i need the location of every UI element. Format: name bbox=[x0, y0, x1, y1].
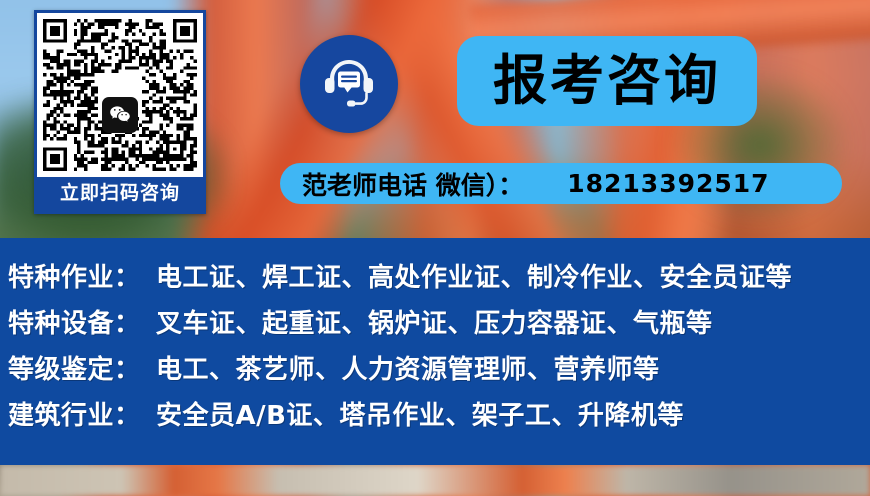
qr-code-image bbox=[43, 19, 197, 171]
page-title: 报考咨询 bbox=[493, 54, 721, 108]
service-category-label: 特种作业： bbox=[8, 257, 156, 294]
headset-support-icon bbox=[300, 35, 398, 133]
service-category-label: 等级鉴定： bbox=[8, 349, 156, 386]
service-row-grade-assessment: 等级鉴定： 电工、茶艺师、人力资源管理师、营养师等 bbox=[8, 349, 870, 395]
contact-label: 范老师电话 微信）： bbox=[302, 166, 523, 202]
qr-code-card[interactable]: 立即扫码咨询 bbox=[34, 10, 206, 214]
contact-phone-number[interactable]: 18213392517 bbox=[567, 169, 769, 198]
contact-phone-pill[interactable]: 范老师电话 微信）： 18213392517 bbox=[280, 163, 842, 204]
service-category-label: 特种设备： bbox=[8, 303, 156, 340]
service-items-label: 叉车证、起重证、锅炉证、压力容器证、气瓶等 bbox=[156, 303, 713, 340]
service-items-label: 电工、茶艺师、人力资源管理师、营养师等 bbox=[156, 349, 660, 386]
service-items-label: 安全员A/B证、塔吊作业、架子工、升降机等 bbox=[156, 395, 684, 432]
qr-code-image-wrapper bbox=[37, 13, 203, 177]
footer-photo-strip bbox=[0, 465, 870, 496]
services-panel: 特种作业： 电工证、焊工证、高处作业证、制冷作业、安全员证等 特种设备： 叉车证… bbox=[0, 238, 870, 465]
title-pill: 报考咨询 bbox=[457, 36, 757, 126]
wechat-icon bbox=[102, 97, 138, 133]
service-row-special-equipment: 特种设备： 叉车证、起重证、锅炉证、压力容器证、气瓶等 bbox=[8, 303, 870, 349]
service-row-special-operations: 特种作业： 电工证、焊工证、高处作业证、制冷作业、安全员证等 bbox=[8, 257, 870, 303]
qr-caption: 立即扫码咨询 bbox=[37, 177, 203, 211]
service-items-label: 电工证、焊工证、高处作业证、制冷作业、安全员证等 bbox=[156, 257, 792, 294]
service-category-label: 建筑行业： bbox=[8, 395, 156, 432]
service-row-construction-industry: 建筑行业： 安全员A/B证、塔吊作业、架子工、升降机等 bbox=[8, 395, 870, 441]
promo-poster: 立即扫码咨询 报考咨询 范老师电话 微信）： 18213392517 特种作业：… bbox=[0, 0, 870, 496]
